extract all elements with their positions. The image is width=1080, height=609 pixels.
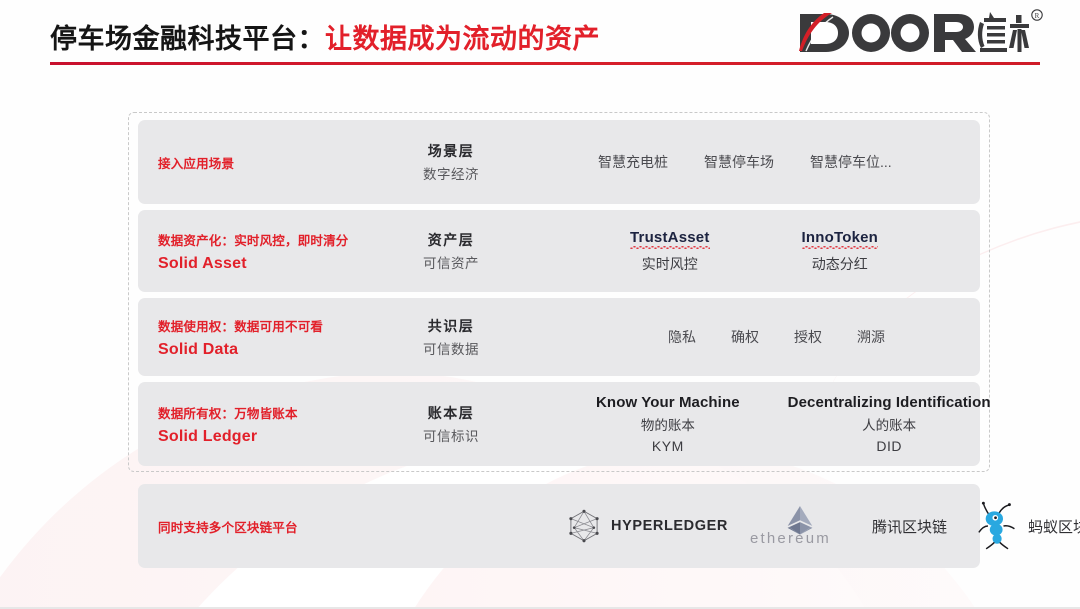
layer-row-consensus-content: 隐私 确权 授权 溯源: [518, 298, 970, 376]
header-divider-rule: [50, 62, 1040, 65]
asset-item-cn: 实时风控: [630, 254, 710, 274]
brand-logo: R: [794, 8, 1044, 58]
chain-item-hyperledger[interactable]: HYPERLEDGER: [566, 508, 728, 544]
chain-item-ethereum[interactable]: ethereum: [758, 504, 842, 548]
ledger-item-en: Know Your Machine: [596, 394, 740, 411]
page-title: 停车场金融科技平台：让数据成为流动的资产: [50, 17, 600, 56]
ledger-item-cn: 人的账本: [788, 414, 991, 434]
page-title-primary: 停车场金融科技平台：: [50, 24, 325, 54]
ledger-label-cn: 数据所有权：万物皆账本: [158, 403, 388, 422]
layer-row-ledger-label: 数据所有权：万物皆账本 Solid Ledger: [158, 382, 388, 466]
layer-title-asset: 资产层: [428, 230, 475, 250]
layer-row-asset-content: TrustAsset 实时风控 InnoToken 动态分红: [518, 210, 970, 292]
chain-name-tencent: 腾讯区块链: [872, 516, 947, 537]
layer-title-ledger: 账本层: [428, 403, 475, 423]
chain-logos: HYPERLEDGER ethereum 腾讯区块链: [518, 501, 1080, 551]
scenario-tag-list: 智慧充电桩 智慧停车场 智慧停车位...: [518, 152, 892, 172]
ledger-item-list: Know Your Machine 物的账本 KYM Decentralizin…: [518, 394, 991, 454]
ledger-item-abbr: DID: [788, 438, 991, 454]
layer-subtitle-scenario: 数字经济: [423, 163, 479, 183]
consensus-tag[interactable]: 溯源: [857, 327, 885, 347]
layer-subtitle-asset: 可信资产: [423, 252, 479, 272]
slide-canvas: 停车场金融科技平台：让数据成为流动的资产: [0, 0, 1080, 609]
layer-row-consensus-label: 数据使用权：数据可用不可看 Solid Data: [158, 298, 388, 376]
layer-title-scenario: 场景层: [428, 141, 475, 161]
consensus-tag[interactable]: 隐私: [668, 327, 696, 347]
layer-row-ledger-content: Know Your Machine 物的账本 KYM Decentralizin…: [518, 382, 970, 466]
asset-item-cn: 动态分红: [802, 254, 879, 274]
layer-name-consensus: 共识层 可信数据: [396, 298, 506, 376]
door-logo-icon: R: [794, 8, 1044, 58]
scenario-tag[interactable]: 智慧充电桩: [598, 152, 668, 172]
asset-label-en: Solid Asset: [158, 255, 388, 273]
layer-name-scenario: 场景层 数字经济: [396, 120, 506, 204]
layer-subtitle-consensus: 可信数据: [423, 338, 479, 358]
svg-text:R: R: [1035, 12, 1040, 20]
layer-row-scenario-content: 智慧充电桩 智慧停车场 智慧停车位...: [518, 120, 970, 204]
chain-name-ethereum: ethereum: [750, 530, 831, 547]
slide-header: 停车场金融科技平台：让数据成为流动的资产: [0, 0, 1080, 72]
chain-item-tencent[interactable]: 腾讯区块链: [872, 516, 947, 537]
page-title-accent: 让数据成为流动的资产: [325, 24, 600, 54]
layer-row-asset-label: 数据资产化：实时风控，即时清分 Solid Asset: [158, 210, 388, 292]
chain-item-ant[interactable]: 蚂蚁区块链: [977, 501, 1080, 551]
layer-subtitle-ledger: 可信标识: [423, 425, 479, 445]
consensus-tag[interactable]: 授权: [794, 327, 822, 347]
consensus-tag[interactable]: 确权: [731, 327, 759, 347]
layer-row-consensus: 数据使用权：数据可用不可看 Solid Data 共识层 可信数据 隐私 确权 …: [138, 298, 980, 376]
layer-name-asset: 资产层 可信资产: [396, 210, 506, 292]
blockchain-platform-row: 同时支持多个区块链平台: [138, 484, 980, 568]
layer-row-scenario-label: 接入应用场景: [158, 120, 388, 204]
asset-item-en: InnoToken: [802, 229, 879, 249]
asset-item[interactable]: InnoToken 动态分红: [802, 229, 879, 274]
consensus-label-cn: 数据使用权：数据可用不可看: [158, 316, 388, 335]
blockchain-label-cn: 同时支持多个区块链平台: [158, 517, 388, 536]
ledger-item-cn: 物的账本: [596, 414, 740, 434]
ledger-item[interactable]: Know Your Machine 物的账本 KYM: [596, 394, 740, 454]
asset-item-en: TrustAsset: [630, 229, 710, 249]
ledger-item[interactable]: Decentralizing Identification 人的账本 DID: [788, 394, 991, 454]
chain-name-ant: 蚂蚁区块链: [1028, 516, 1080, 537]
consensus-tag-list: 隐私 确权 授权 溯源: [518, 327, 885, 347]
layer-title-consensus: 共识层: [428, 316, 475, 336]
blockchain-logo-list: HYPERLEDGER ethereum 腾讯区块链: [518, 484, 970, 568]
asset-label-cn: 数据资产化：实时风控，即时清分: [158, 230, 388, 249]
layer-row-asset: 数据资产化：实时风控，即时清分 Solid Asset 资产层 可信资产 Tru…: [138, 210, 980, 292]
layer-name-ledger: 账本层 可信标识: [396, 382, 506, 466]
ledger-label-en: Solid Ledger: [158, 428, 388, 446]
hyperledger-icon: [566, 508, 602, 544]
ledger-item-abbr: KYM: [596, 438, 740, 454]
chain-name-hyperledger: HYPERLEDGER: [611, 518, 728, 534]
layer-row-ledger: 数据所有权：万物皆账本 Solid Ledger 账本层 可信标识 Know Y…: [138, 382, 980, 466]
ant-chain-icon: [977, 501, 1019, 551]
asset-item[interactable]: TrustAsset 实时风控: [630, 229, 710, 274]
blockchain-row-label: 同时支持多个区块链平台: [158, 484, 388, 568]
ledger-item-en: Decentralizing Identification: [788, 394, 991, 411]
scenario-tag[interactable]: 智慧停车位...: [810, 152, 892, 172]
scenario-label-cn: 接入应用场景: [158, 153, 388, 172]
asset-item-list: TrustAsset 实时风控 InnoToken 动态分红: [518, 229, 878, 274]
scenario-tag[interactable]: 智慧停车场: [704, 152, 774, 172]
consensus-label-en: Solid Data: [158, 341, 388, 359]
layer-row-scenario: 接入应用场景 场景层 数字经济 智慧充电桩 智慧停车场 智慧停车位...: [138, 120, 980, 204]
